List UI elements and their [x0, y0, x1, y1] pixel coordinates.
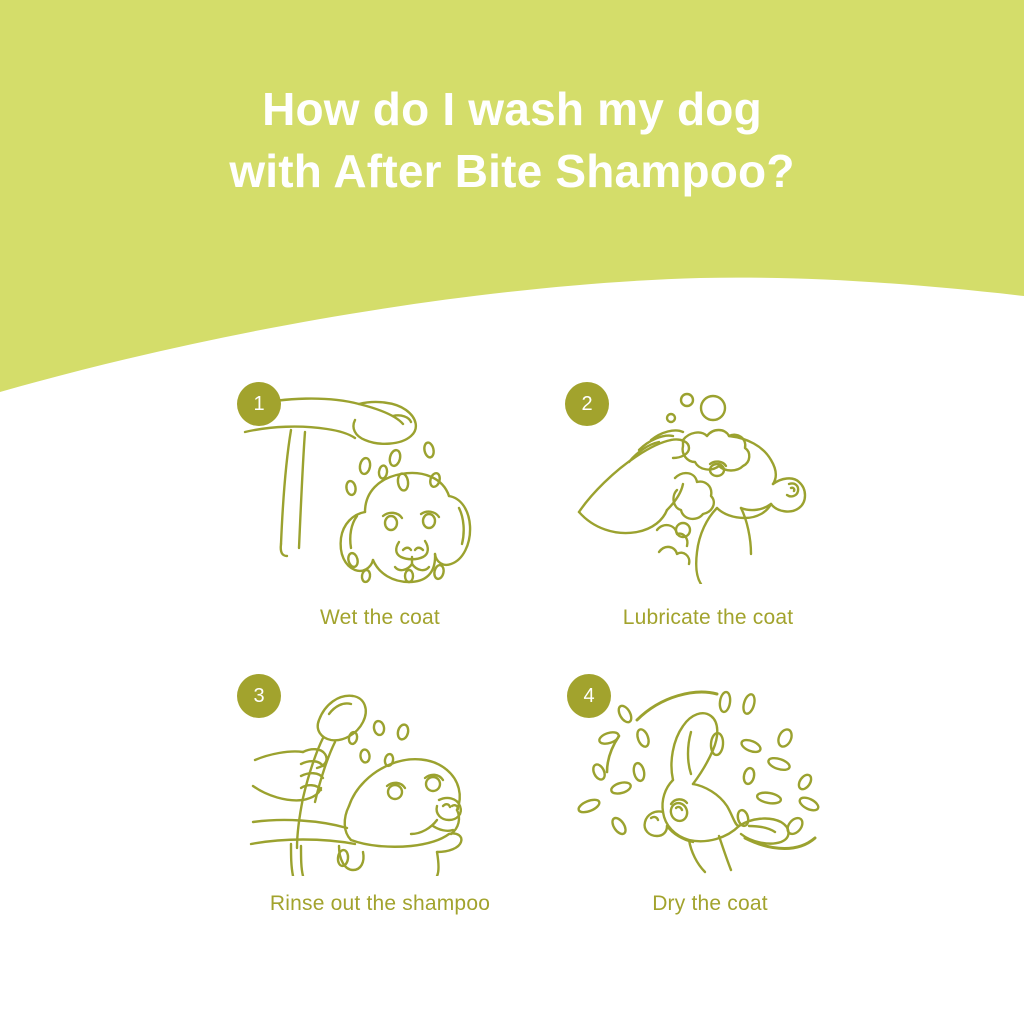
step-number-badge-2: 2: [565, 382, 609, 426]
step-number-badge-4: 4: [567, 674, 611, 718]
step-caption-2: Lubricate the coat: [543, 606, 873, 630]
hand-lathering-suds-on-dog-icon: [571, 384, 846, 584]
step-number-badge-3: 3: [237, 674, 281, 718]
dog-shaking-off-water-icon: [573, 676, 848, 876]
steps-grid: 1: [0, 0, 1024, 1024]
hand-rinsing-dog-with-hose-icon: [243, 676, 518, 876]
showerhead-spraying-dog-head-icon: [243, 384, 518, 584]
step-caption-1: Wet the coat: [215, 606, 545, 630]
infographic-page: How do I wash my dog with After Bite Sha…: [0, 0, 1024, 1024]
step-number-badge-1: 1: [237, 382, 281, 426]
step-caption-3: Rinse out the shampoo: [215, 892, 545, 916]
step-caption-4: Dry the coat: [545, 892, 875, 916]
